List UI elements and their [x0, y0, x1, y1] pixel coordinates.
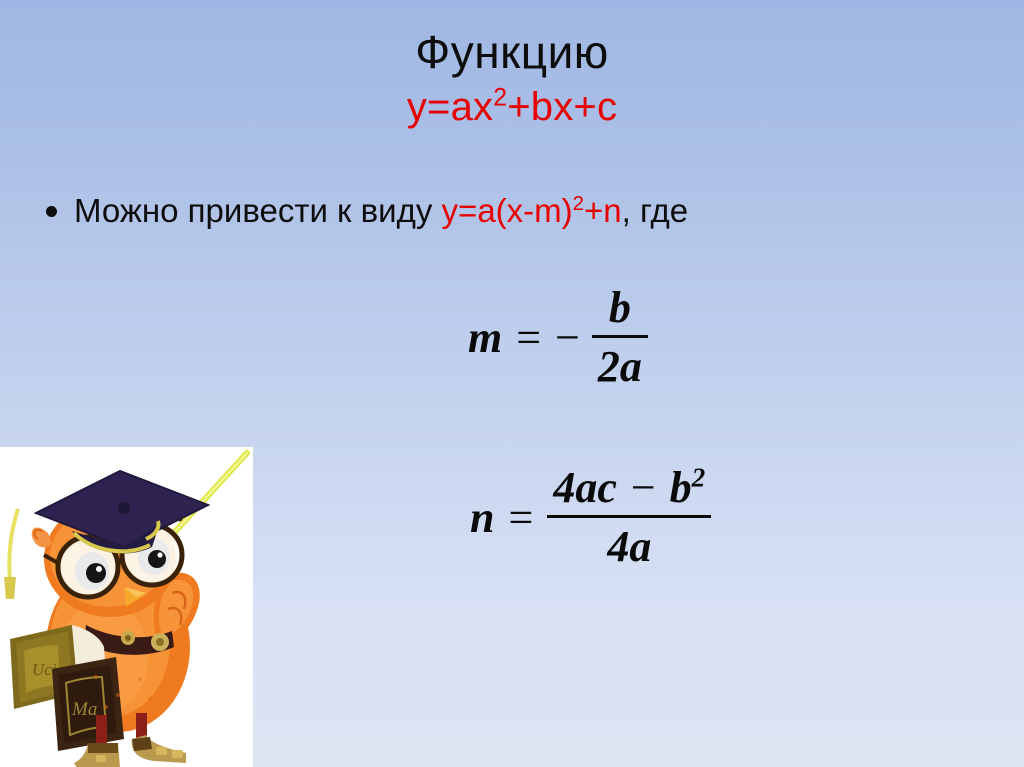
formula-n-numerator-operator: −: [631, 463, 656, 512]
formula-m-minus-sign: −: [555, 312, 580, 363]
bullet-text-before: Можно привести к виду: [74, 192, 442, 229]
bullet-item-label: Можно привести к виду y=a(x-m)2+n, где: [74, 190, 688, 231]
owl-professor-image: Uci Ma: [0, 447, 253, 767]
bullet-dot-icon: [46, 206, 57, 217]
bullet-formula-base: y=a(x-m): [442, 192, 573, 229]
title-formula-base: y=ax: [407, 85, 493, 129]
formula-n-equals: =: [508, 492, 533, 543]
svg-text:Ma: Ma: [71, 699, 97, 720]
owl-professor-icon: Uci Ma: [0, 447, 253, 767]
formula-n-numerator-superscript: 2: [692, 462, 706, 492]
bullet-formula-tail: +n: [584, 192, 622, 229]
formula-n-denominator: 4a: [601, 518, 657, 572]
title-line-1: Функцию: [0, 28, 1024, 78]
formula-n-lhs: n: [470, 492, 494, 543]
formula-m-definition: m = − b 2a: [468, 282, 648, 392]
title-formula-tail: +bx+c: [507, 85, 617, 129]
bullet-formula-superscript: 2: [573, 192, 584, 215]
formula-n-numerator-term1: 4ac: [553, 463, 617, 512]
formula-n-fraction: 4ac−b2 4a: [547, 462, 711, 572]
bullet-list-item: Можно привести к виду y=a(x-m)2+n, где: [46, 190, 984, 231]
slide-canvas: Функцию y=ax2+bx+c Можно привести к виду…: [0, 0, 1024, 767]
page-title: Функцию y=ax2+bx+c: [0, 28, 1024, 129]
formula-n-numerator-term2: b: [670, 463, 692, 512]
formula-n-numerator: 4ac−b2: [547, 462, 711, 515]
title-formula-superscript: 2: [493, 84, 507, 111]
title-formula-quadratic: y=ax2+bx+c: [0, 86, 1024, 129]
formula-m-lhs: m: [468, 312, 502, 363]
formula-n-definition: n = 4ac−b2 4a: [470, 462, 711, 572]
formula-m-equals: =: [516, 312, 541, 363]
formula-m-numerator: b: [603, 282, 637, 335]
formula-m-fraction: b 2a: [592, 282, 648, 392]
formula-m-denominator: 2a: [592, 338, 648, 392]
bullet-text-after: , где: [622, 192, 689, 229]
